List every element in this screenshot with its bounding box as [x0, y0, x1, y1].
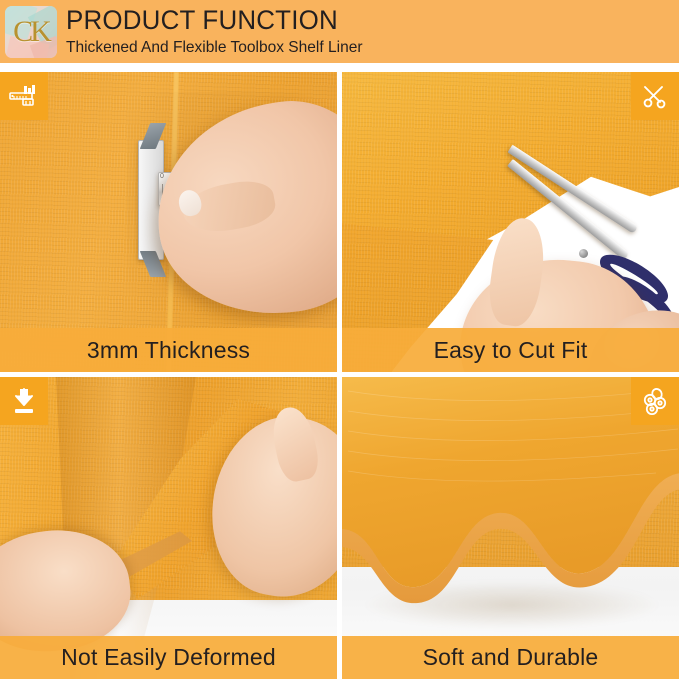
page-subtitle: Thickened And Flexible Toolbox Shelf Lin… — [66, 37, 363, 58]
panel-caption: Easy to Cut Fit — [342, 328, 679, 372]
mat-wave-shape — [342, 377, 679, 609]
press-down-arrow-icon — [0, 377, 48, 425]
feature-grid: 0 1 2 3 4 5 — [0, 72, 679, 679]
panel-caption: Not Easily Deformed — [0, 636, 337, 679]
page-title: PRODUCT FUNCTION — [66, 6, 359, 35]
caliper-tick-0: 0 — [160, 173, 164, 185]
rolls-icon — [631, 377, 679, 425]
product-function-infographic: CK PRODUCT FUNCTION Thickened And Flexib… — [0, 0, 679, 679]
header-bar: CK PRODUCT FUNCTION Thickened And Flexib… — [0, 0, 679, 63]
header-text-block: PRODUCT FUNCTION Thickened And Flexible … — [66, 6, 372, 58]
caliper-icon — [0, 72, 48, 120]
panel-thickness: 0 1 2 3 4 5 — [0, 72, 337, 372]
panel-caption: Soft and Durable — [342, 636, 679, 679]
panel-deform: Not Easily Deformed — [0, 377, 337, 679]
logo-monogram-text: CK — [5, 6, 57, 58]
scissor-pivot-screw — [579, 249, 588, 258]
ck-brand-logo: CK — [5, 6, 57, 58]
panel-durable: Soft and Durable — [342, 377, 679, 679]
panel-caption: 3mm Thickness — [0, 328, 337, 372]
scissors-icon — [631, 72, 679, 120]
panel-cut: Easy to Cut Fit — [342, 72, 679, 372]
